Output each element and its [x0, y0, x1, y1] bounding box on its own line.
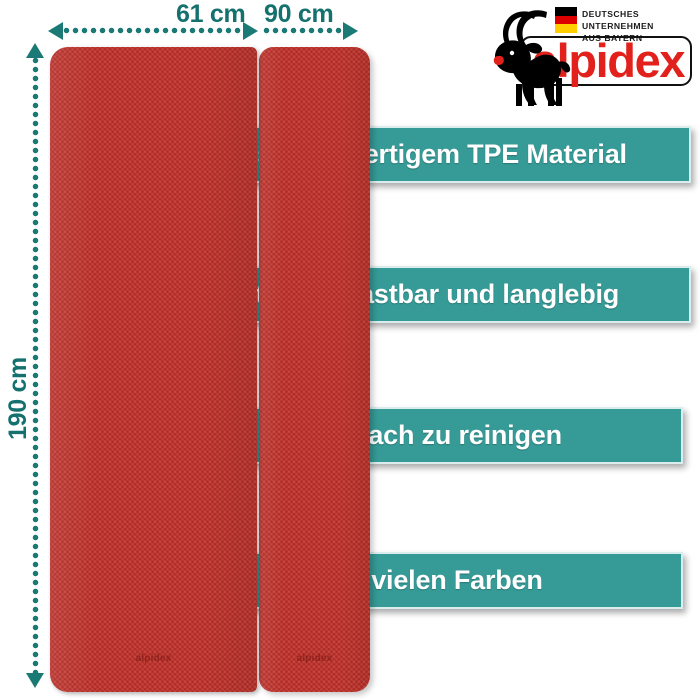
- mat-panel-left: alpidex: [50, 47, 257, 692]
- alpidex-logo: DEUTSCHES UNTERNEHMEN AUS BAYERN alpidex: [492, 4, 696, 106]
- mat-watermark-right: alpidex: [259, 653, 370, 664]
- dimension-label-61cm: 61 cm: [176, 0, 245, 29]
- dimension-label-190cm: 190 cm: [4, 357, 33, 440]
- arrow-left-icon: [48, 22, 63, 40]
- mat-watermark-left: alpidex: [50, 653, 257, 664]
- ibex-goat-icon: [492, 8, 578, 106]
- arrow-down-icon: [26, 673, 44, 688]
- mat-panel-right: alpidex: [259, 47, 370, 692]
- product-infographic: alpidex alpidex 61 cm 90 cm 190 cm aus h…: [0, 0, 700, 700]
- dimension-label-90cm: 90 cm: [264, 0, 333, 29]
- dimension-line-vertical: [32, 56, 39, 676]
- logo-claim-line-1: DEUTSCHES UNTERNEHMEN: [582, 8, 696, 32]
- arrow-right-icon-2: [343, 22, 358, 40]
